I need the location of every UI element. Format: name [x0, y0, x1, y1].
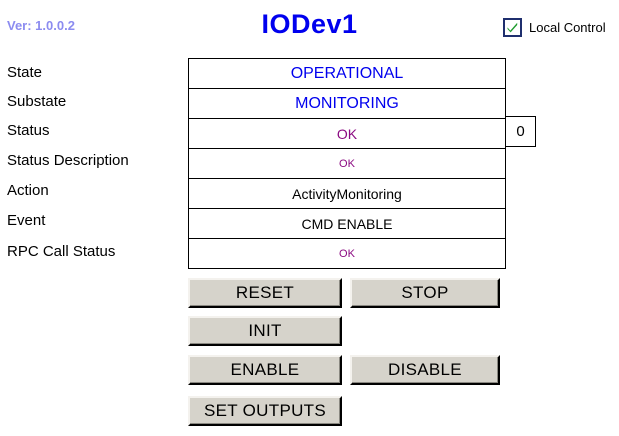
- field-value-status-description: OK: [189, 149, 506, 179]
- field-value-action: ActivityMonitoring: [189, 179, 506, 209]
- iodev-control-panel: Ver: 1.0.0.2 IODev1 Local Control State …: [0, 0, 619, 436]
- table-row: OK: [189, 119, 506, 149]
- field-label-action: Action: [7, 182, 49, 200]
- field-value-status: OK: [189, 119, 506, 149]
- field-value-state: OPERATIONAL: [189, 59, 506, 89]
- disable-button[interactable]: DISABLE: [350, 355, 500, 385]
- field-value-event: CMD ENABLE: [189, 209, 506, 239]
- init-button[interactable]: INIT: [188, 316, 342, 346]
- field-value-substate: MONITORING: [189, 89, 506, 119]
- reset-button[interactable]: RESET: [188, 278, 342, 308]
- status-field-table: OPERATIONAL MONITORING OK OK ActivityMon…: [188, 58, 506, 269]
- table-row: OPERATIONAL: [189, 59, 506, 89]
- table-row: OK: [189, 149, 506, 179]
- field-label-event: Event: [7, 212, 45, 230]
- table-row: CMD ENABLE: [189, 209, 506, 239]
- table-row: MONITORING: [189, 89, 506, 119]
- checkbox-checked-icon[interactable]: [503, 18, 522, 37]
- enable-button[interactable]: ENABLE: [188, 355, 342, 385]
- stop-button[interactable]: STOP: [350, 278, 500, 308]
- field-label-rpc-call-status: RPC Call Status: [7, 243, 115, 261]
- table-row: ActivityMonitoring: [189, 179, 506, 209]
- local-control-checkbox[interactable]: Local Control: [503, 18, 606, 37]
- field-label-substate: Substate: [7, 93, 66, 111]
- status-code-value: 0: [505, 116, 536, 147]
- table-row: OK: [189, 239, 506, 269]
- local-control-label: Local Control: [529, 20, 606, 35]
- set-outputs-button[interactable]: SET OUTPUTS: [188, 396, 342, 426]
- field-label-status-description: Status Description: [7, 152, 129, 170]
- field-label-state: State: [7, 64, 42, 82]
- field-value-rpc-call-status: OK: [189, 239, 506, 269]
- field-label-status: Status: [7, 122, 50, 140]
